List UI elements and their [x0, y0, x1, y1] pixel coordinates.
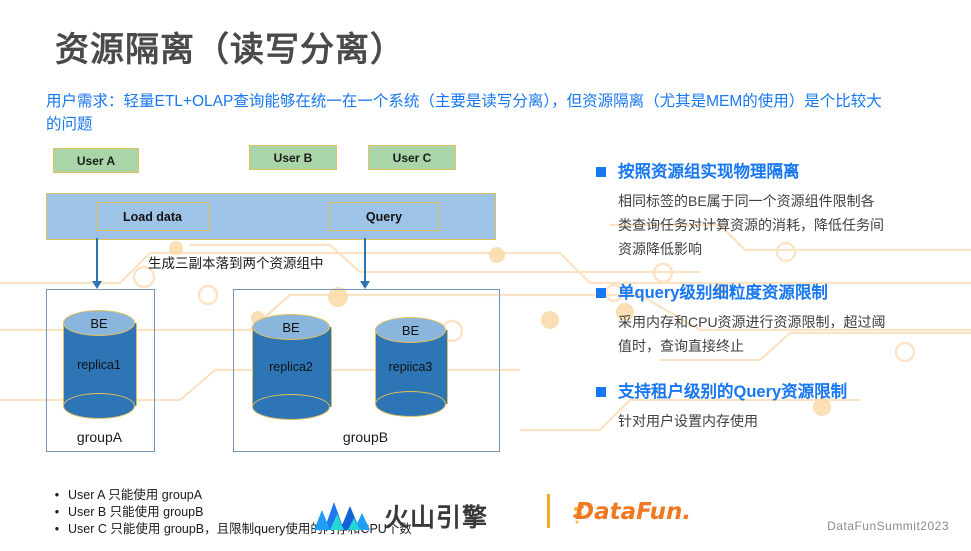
feature-point-1-heading: 按照资源组实现物理隔离 [618, 160, 956, 184]
feature-point-3: 支持租户级别的Query资源限制 针对用户设置内存使用 [596, 380, 956, 433]
square-bullet-icon [596, 288, 606, 298]
logo-bar: 火山引擎 DataFun. [310, 492, 630, 537]
volcano-engine-wordmark: 火山引擎 [384, 498, 488, 534]
datafun-wordmark: DataFun. [575, 499, 691, 525]
feature-point-1: 按照资源组实现物理隔离 相同标签的BE属于同一个资源组件限制各类查询任务对计算资… [596, 160, 956, 261]
load-arrow-head [92, 281, 102, 289]
cylinder-replica-label: repiica3 [375, 317, 446, 417]
slide-root: 资源隔离（读写分离） 用户需求：轻量ETL+OLAP查询能够在统一在一个系统（主… [0, 0, 971, 551]
bullet-dot-icon: • [46, 521, 68, 538]
footer-summit-label: DataFunSummit2023 [827, 519, 949, 533]
feature-point-3-heading: 支持租户级别的Query资源限制 [618, 380, 956, 404]
volcano-engine-mark-icon [310, 494, 380, 536]
bullet-dot-icon: • [46, 487, 68, 504]
logo-divider [547, 494, 550, 528]
feature-point-2: 单query级别细粒度资源限制 采用内存和CPU资源进行资源限制，超过阈值时，查… [596, 281, 956, 358]
be-cylinder-replica3: BE repiica3 [375, 317, 446, 417]
group-a-label: groupA [46, 429, 153, 445]
feature-point-2-heading: 单query级别细粒度资源限制 [618, 281, 956, 305]
query-box: Query [328, 202, 440, 231]
replication-note: 生成三副本落到两个资源组中 [148, 252, 324, 272]
square-bullet-icon [596, 167, 606, 177]
note-text: User B 只能使用 groupB [68, 504, 203, 521]
architecture-diagram: User A User B User C Load data Query 生成三… [0, 0, 560, 480]
cylinder-replica-label: replica1 [63, 310, 135, 419]
be-cylinder-replica1: BE replica1 [63, 310, 135, 419]
user-b-box: User B [249, 145, 337, 170]
load-arrow-line [96, 238, 98, 282]
feature-points-list: 按照资源组实现物理隔离 相同标签的BE属于同一个资源组件限制各类查询任务对计算资… [596, 160, 956, 455]
feature-point-2-body: 采用内存和CPU资源进行资源限制，超过阈值时，查询直接终止 [618, 310, 888, 358]
cylinder-replica-label: replica2 [252, 314, 330, 420]
bullet-dot-icon: • [46, 504, 68, 521]
user-a-box: User A [53, 148, 139, 173]
feature-point-3-body: 针对用户设置内存使用 [618, 409, 888, 433]
note-text: User A 只能使用 groupA [68, 487, 202, 504]
query-arrow-line [364, 238, 366, 282]
user-c-box: User C [368, 145, 456, 170]
load-data-box: Load data [96, 202, 209, 231]
group-b-label: groupB [233, 429, 498, 445]
feature-point-1-body: 相同标签的BE属于同一个资源组件限制各类查询任务对计算资源的消耗，降低任务间资源… [618, 189, 888, 261]
be-cylinder-replica2: BE replica2 [252, 314, 330, 420]
query-arrow-head [360, 281, 370, 289]
fe-band: Load data Query [46, 193, 496, 240]
square-bullet-icon [596, 387, 606, 397]
